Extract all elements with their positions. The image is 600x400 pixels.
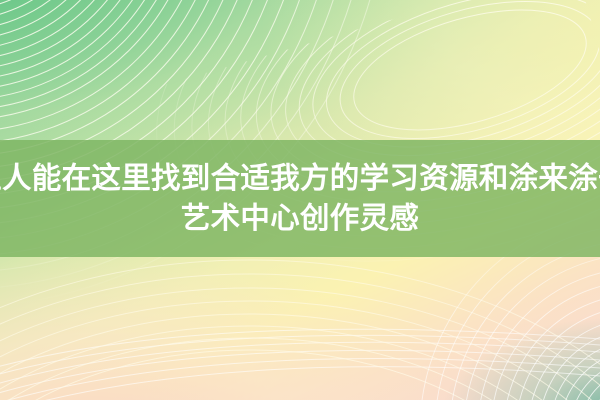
caption-band: 王人能在这里找到合适我方的学习资源和涂来涂去 艺术中心创作灵感 bbox=[0, 140, 600, 257]
caption-line-1: 王人能在这里找到合适我方的学习资源和涂来涂去 bbox=[0, 160, 600, 198]
caption-line-2: 艺术中心创作灵感 bbox=[181, 200, 419, 238]
decorative-banner: 王人能在这里找到合适我方的学习资源和涂来涂去 艺术中心创作灵感 bbox=[0, 0, 600, 400]
